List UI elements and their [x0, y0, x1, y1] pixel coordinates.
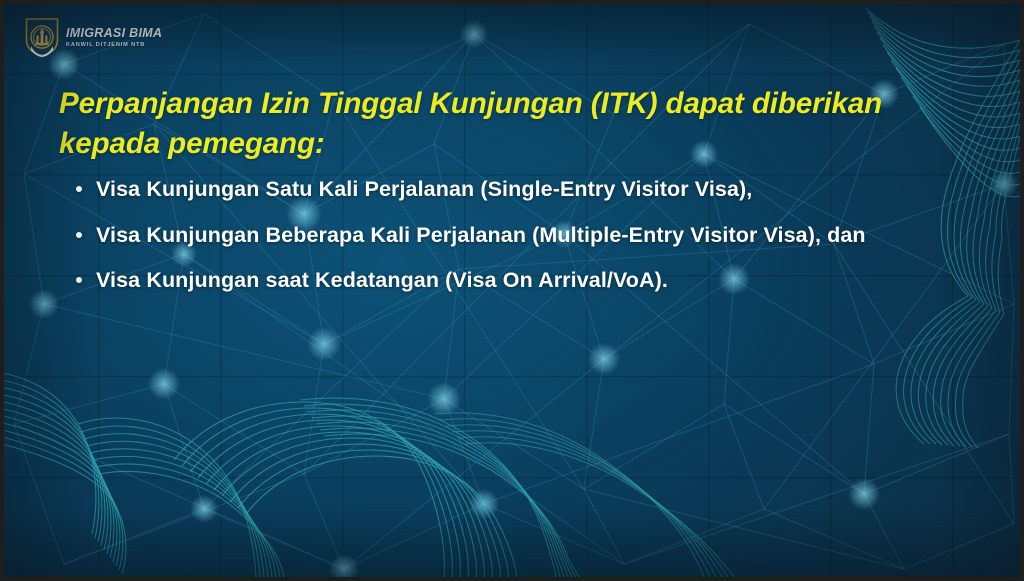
slide-canvas: IMIGRASI BIMA KANWIL DITJENIM NTB Perpan…: [4, 4, 1020, 577]
visa-type-list: Visa Kunjungan Satu Kali Perjalanan (Sin…: [68, 176, 968, 294]
list-item: Visa Kunjungan saat Kedatangan (Visa On …: [68, 267, 968, 294]
slide-heading: Perpanjangan Izin Tinggal Kunjungan (ITK…: [59, 84, 904, 163]
logo-title: IMIGRASI BIMA: [66, 27, 162, 40]
immigration-shield-emblem-icon: [25, 17, 59, 57]
logo-text-block: IMIGRASI BIMA KANWIL DITJENIM NTB: [66, 25, 162, 48]
logo-subtitle: KANWIL DITJENIM NTB: [66, 43, 162, 49]
list-item: Visa Kunjungan Satu Kali Perjalanan (Sin…: [68, 176, 968, 203]
list-item: Visa Kunjungan Beberapa Kali Perjalanan …: [68, 222, 968, 249]
presentation-slide: IMIGRASI BIMA KANWIL DITJENIM NTB Perpan…: [0, 0, 1024, 581]
organization-logo: IMIGRASI BIMA KANWIL DITJENIM NTB: [25, 17, 162, 57]
